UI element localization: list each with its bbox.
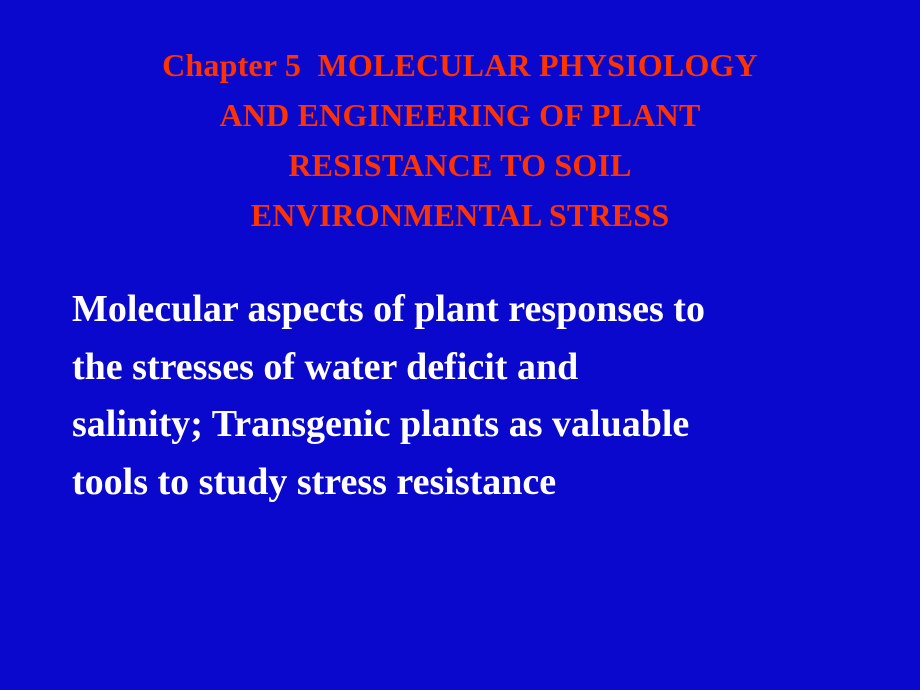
slide-body-text: Molecular aspects of plant responses to … xyxy=(72,281,872,511)
presentation-slide: Chapter 5 MOLECULAR PHYSIOLOGY AND ENGIN… xyxy=(0,0,920,690)
slide-title-line-4: ENVIRONMENTAL STRESS xyxy=(0,190,920,240)
slide-body-line-4: tools to study stress resistance xyxy=(72,454,872,512)
slide-title: Chapter 5 MOLECULAR PHYSIOLOGY AND ENGIN… xyxy=(0,40,920,240)
slide-body-line-2: the stresses of water deficit and xyxy=(72,339,872,397)
slide-body-line-3: salinity; Transgenic plants as valuable xyxy=(72,396,872,454)
slide-title-line-3: RESISTANCE TO SOIL xyxy=(0,140,920,190)
slide-title-line-2: AND ENGINEERING OF PLANT xyxy=(0,90,920,140)
slide-title-line-1: Chapter 5 MOLECULAR PHYSIOLOGY xyxy=(0,40,920,90)
slide-body-line-1: Molecular aspects of plant responses to xyxy=(72,281,872,339)
